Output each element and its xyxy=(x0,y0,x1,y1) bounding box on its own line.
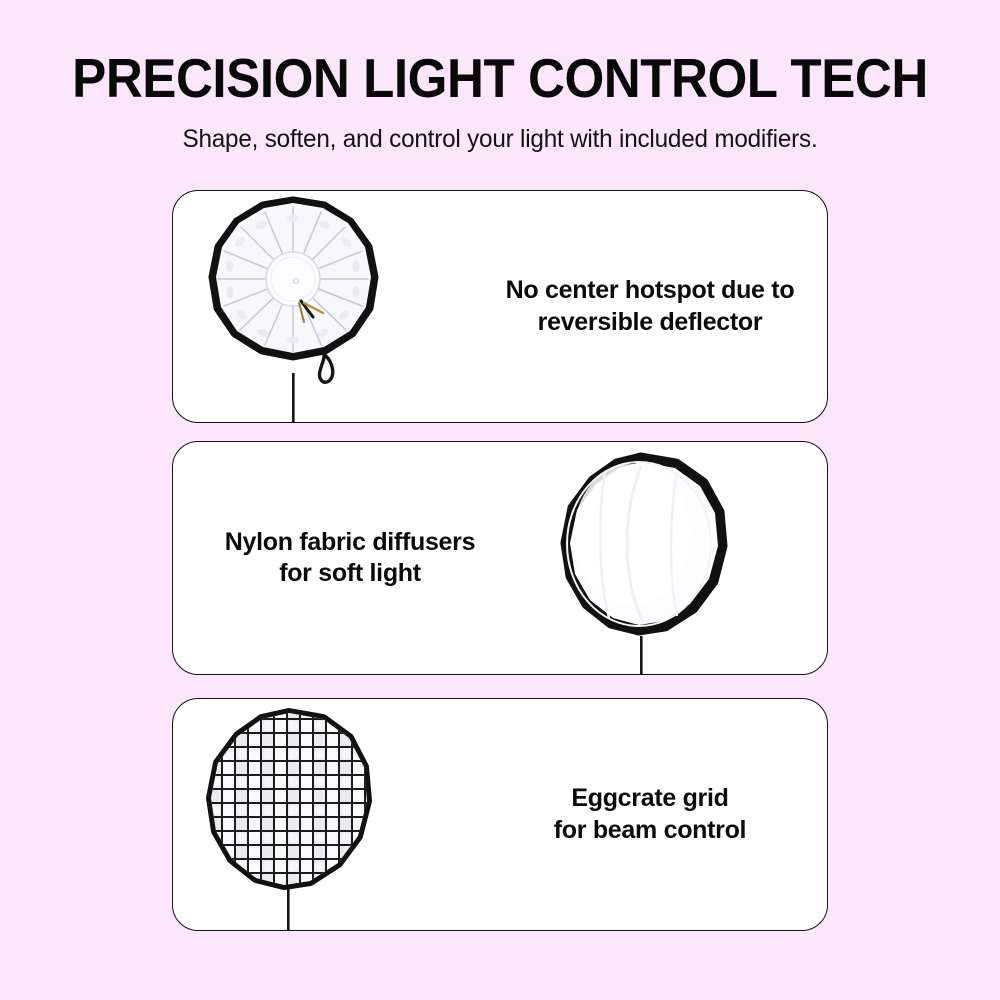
parabolic-softbox-with-deflector-icon xyxy=(173,191,473,422)
page-title: PRECISION LIGHT CONTROL TECH xyxy=(35,0,965,106)
feature-card-nylon-fabric-diffusers[interactable]: Nylon fabric diffusers for soft light xyxy=(172,441,828,675)
feature-card-eggcrate-grid[interactable]: Eggcrate grid for beam control xyxy=(172,698,828,931)
feature-card-no-center-hotspot[interactable]: No center hotspot due to reversible defl… xyxy=(172,190,828,423)
card-inner: Eggcrate grid for beam control xyxy=(173,699,827,930)
eggcrate-grid-image xyxy=(173,699,473,930)
softbox-with-eggcrate-grid-icon xyxy=(173,699,473,930)
card-copy: Nylon fabric diffusers for soft light xyxy=(173,527,527,590)
white-diffuser-dome-softbox-icon xyxy=(527,442,827,674)
diffuser-dome-image xyxy=(527,442,827,674)
page-header: PRECISION LIGHT CONTROL TECH Shape, soft… xyxy=(0,0,1000,154)
feature-text-no-center-hotspot: No center hotspot due to reversible defl… xyxy=(506,275,795,338)
promo-page: PRECISION LIGHT CONTROL TECH Shape, soft… xyxy=(0,0,1000,1000)
page-subtitle: Shape, soften, and control your light wi… xyxy=(15,106,985,154)
feature-text-nylon-fabric-diffusers: Nylon fabric diffusers for soft light xyxy=(225,527,475,590)
card-copy: No center hotspot due to reversible defl… xyxy=(473,275,827,338)
softbox-deflector-image xyxy=(173,191,473,422)
feature-text-eggcrate-grid: Eggcrate grid for beam control xyxy=(554,783,746,846)
card-inner: No center hotspot due to reversible defl… xyxy=(173,191,827,422)
card-inner: Nylon fabric diffusers for soft light xyxy=(173,442,827,674)
card-copy: Eggcrate grid for beam control xyxy=(473,783,827,846)
